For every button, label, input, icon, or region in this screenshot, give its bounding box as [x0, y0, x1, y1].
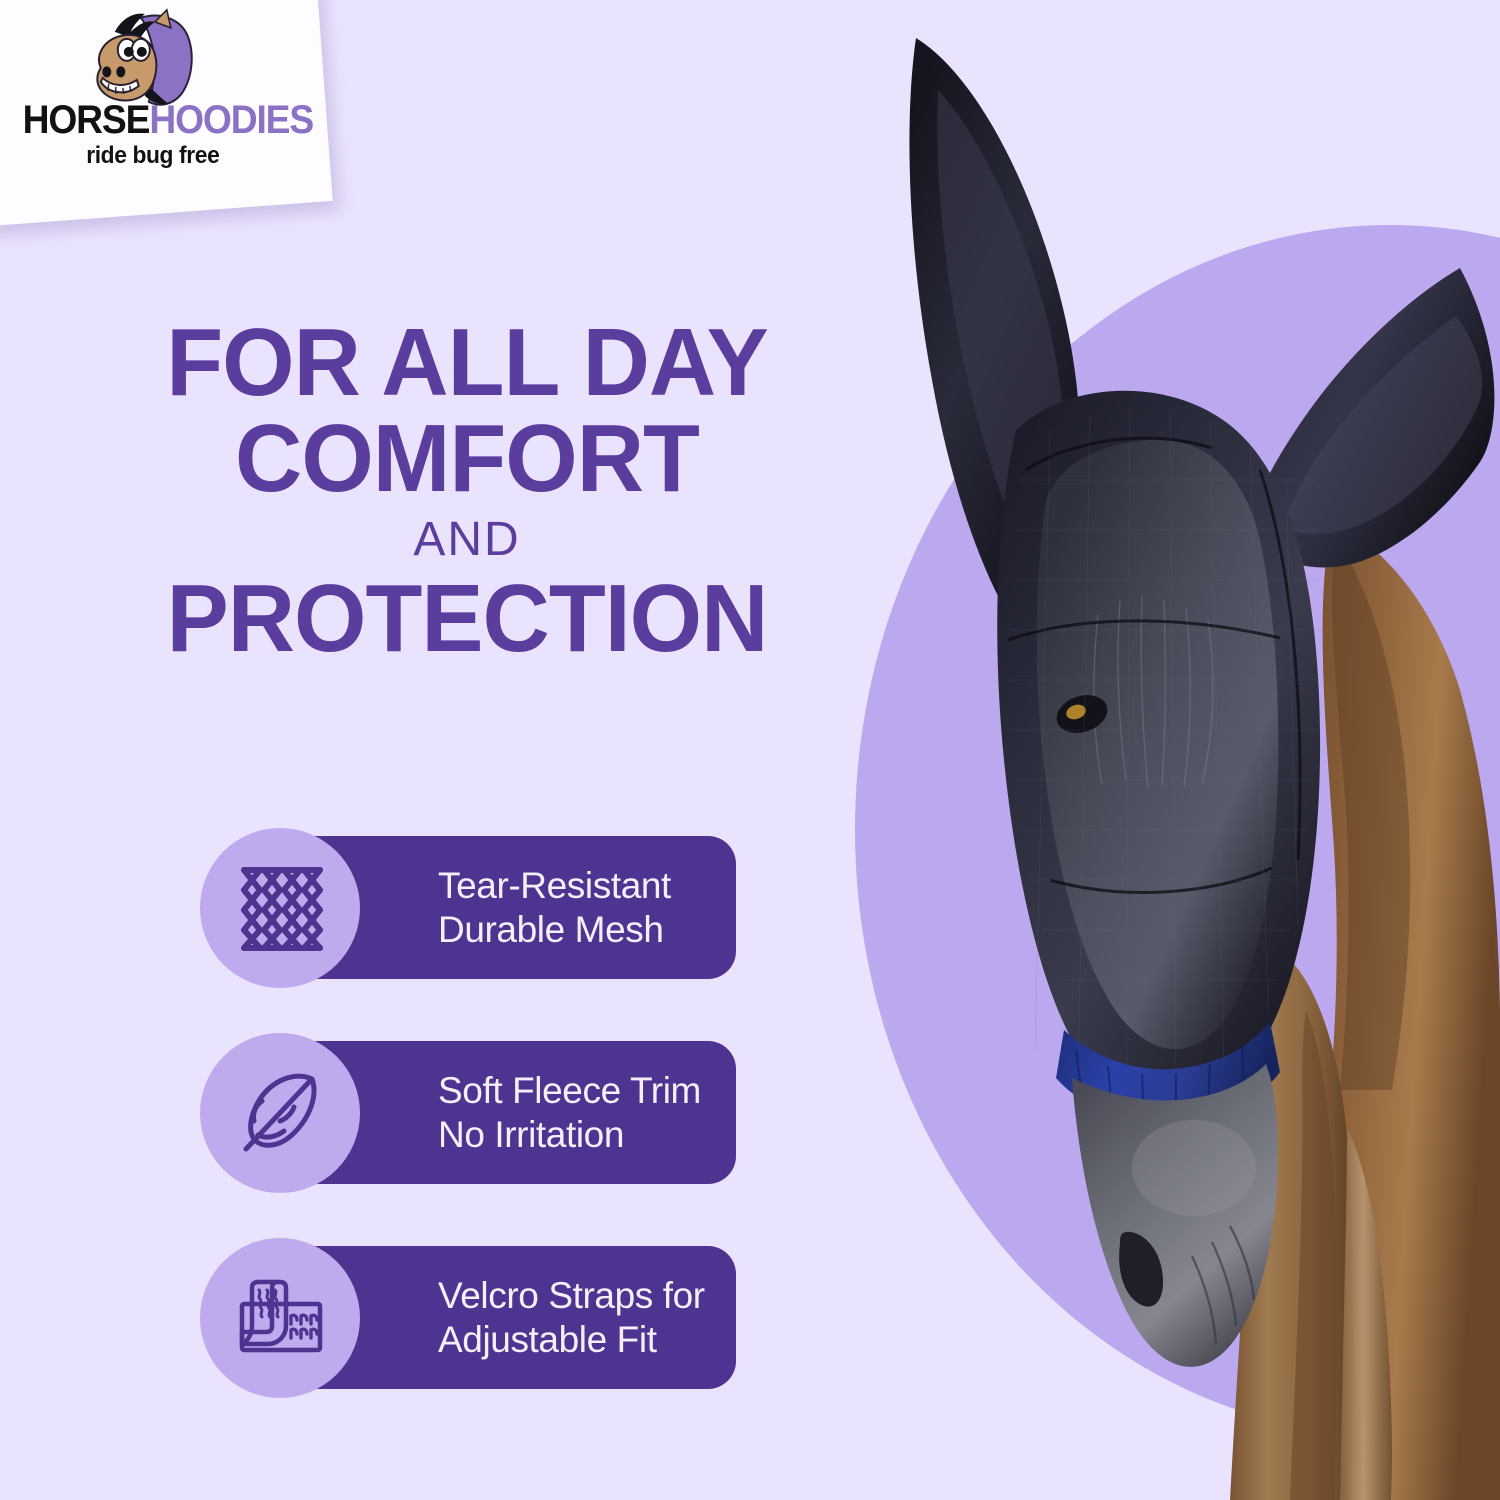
brand-tagline: ride bug free: [20, 142, 286, 170]
feature-item-velcro[interactable]: Velcro Straps for Adjustable Fit: [200, 1238, 760, 1398]
velcro-strap-icon: [200, 1238, 360, 1398]
feature-item-fleece[interactable]: Soft Fleece Trim No Irritation: [200, 1033, 760, 1193]
brand-wordmark: HORSEHOODIES: [23, 100, 283, 140]
feature-label: Tear-Resistant Durable Mesh: [438, 864, 671, 951]
brand-logo-badge[interactable]: HORSEHOODIES ride bug free: [0, 0, 333, 226]
mesh-lattice-icon: [200, 828, 360, 988]
feature-label: Velcro Straps for Adjustable Fit: [438, 1274, 705, 1361]
feature-label: Soft Fleece Trim No Irritation: [438, 1069, 701, 1156]
headline-line-1: FOR ALL DAY: [84, 318, 850, 408]
product-photo: [820, 0, 1500, 1500]
feather-icon: [200, 1033, 360, 1193]
feature-list: Tear-Resistant Durable Mesh Soft Fle: [200, 828, 760, 1398]
wordmark-horse: HORSE: [23, 98, 150, 142]
headline-line-2: COMFORT: [84, 414, 850, 504]
headline-line-3: PROTECTION: [84, 574, 850, 664]
feature-item-mesh[interactable]: Tear-Resistant Durable Mesh: [200, 828, 760, 988]
marketing-image-canvas: HORSEHOODIES ride bug free FOR ALL DAY C…: [0, 0, 1500, 1500]
headline-block: FOR ALL DAY COMFORT AND PROTECTION: [72, 318, 862, 665]
wordmark-hoodies: HOODIES: [149, 98, 313, 142]
headline-connector: AND: [72, 516, 862, 564]
